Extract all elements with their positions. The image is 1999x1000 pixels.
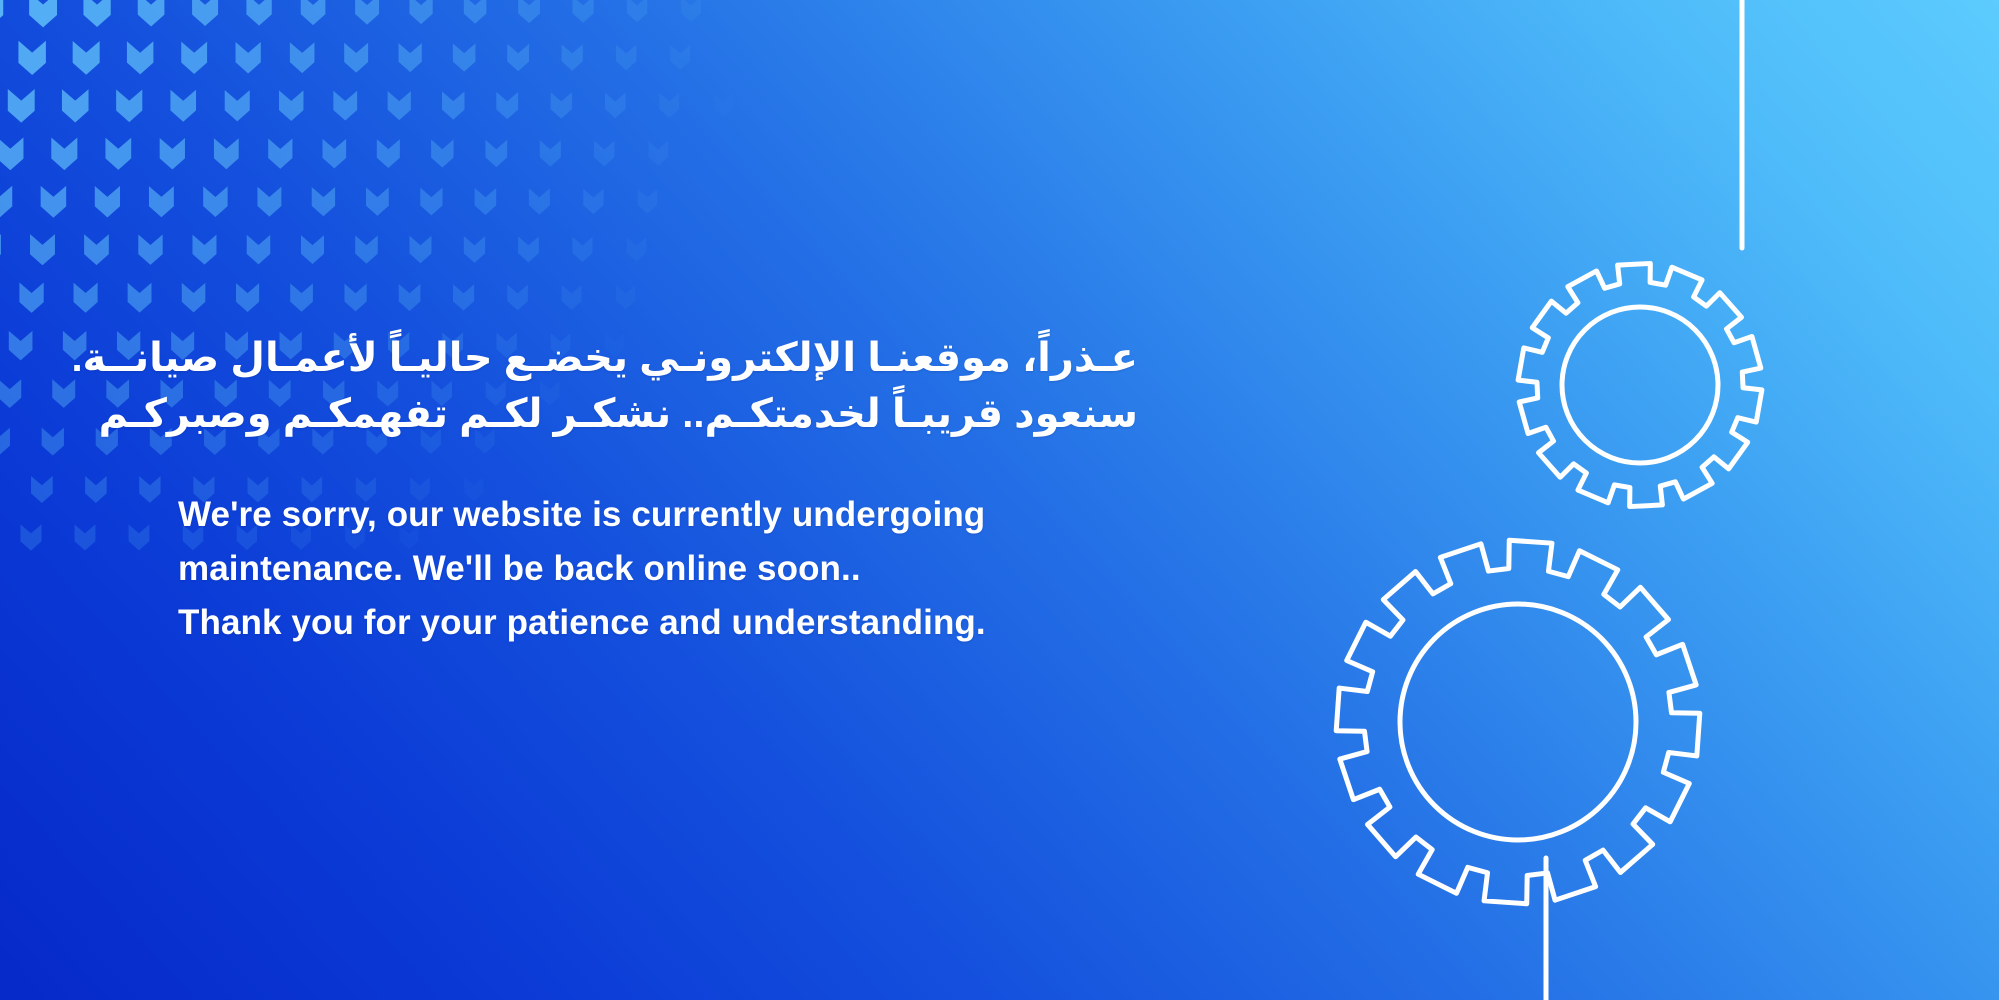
chevron-shape	[73, 283, 97, 313]
chevron-shape	[409, 236, 431, 263]
chevron-shape	[0, 234, 1, 265]
chevron-shape	[8, 89, 35, 123]
chevron-shape	[464, 0, 487, 24]
chevron-shape	[442, 91, 465, 119]
chevron-shape	[139, 476, 160, 503]
chevron-shape	[638, 189, 658, 214]
chevron-shape	[312, 187, 335, 216]
chevron-shape	[518, 236, 539, 262]
chevron-shape	[475, 188, 497, 215]
chevron-shape	[62, 89, 89, 122]
chevron-shape	[257, 187, 281, 217]
chevron-shape	[562, 285, 582, 310]
chevron-shape	[19, 283, 43, 313]
chevron-shape	[344, 284, 366, 312]
chevron-shape	[0, 186, 12, 218]
chevron-shape	[714, 93, 733, 117]
chevron-shape	[453, 284, 474, 310]
chevron-shape	[236, 42, 261, 74]
chevron-shape	[149, 186, 174, 217]
arabic-message-line-1: عـذراً، موقعنـا الإلكترونـي يخضـع حاليـا…	[178, 330, 1138, 386]
chevron-shape	[301, 0, 326, 25]
chevron-shape	[507, 44, 529, 71]
chevron-shape	[41, 186, 67, 218]
chevron-shape	[116, 89, 142, 122]
chevron-shape	[138, 234, 162, 264]
chevron-shape	[562, 44, 583, 70]
chevron-shape	[301, 235, 324, 264]
chevron-shape	[355, 235, 378, 263]
chevron-shape	[399, 43, 422, 72]
chevron-shape	[268, 139, 292, 169]
english-message-block: We're sorry, our website is currently un…	[178, 488, 1138, 650]
arabic-message-line-2: سنعود قريبـاً لخدمتكـم.. نشكـر لكـم تفهم…	[178, 386, 1138, 442]
chevron-shape	[279, 90, 303, 121]
chevron-shape	[518, 0, 540, 23]
chevron-shape	[20, 524, 41, 550]
chevron-shape	[529, 188, 550, 214]
chevron-shape	[627, 237, 647, 261]
chevron-shape	[496, 92, 518, 119]
chevron-shape	[366, 187, 389, 215]
chevron-shape	[464, 236, 485, 263]
chevron-shape	[290, 283, 313, 311]
chevron-shape	[203, 186, 227, 217]
chevron-shape	[583, 189, 603, 214]
chevron-shape	[377, 139, 400, 168]
chevron-shape	[670, 45, 690, 70]
chevron-shape	[551, 92, 572, 118]
chevron-shape	[95, 186, 120, 218]
chevron-shape	[51, 138, 77, 171]
english-message-line-1: We're sorry, our website is currently un…	[178, 488, 1138, 542]
chevron-shape	[247, 235, 271, 264]
chevron-shape	[507, 285, 528, 311]
chevron-shape	[420, 188, 442, 216]
chevron-shape	[540, 140, 561, 166]
chevron-shape	[627, 0, 647, 22]
english-message-line-2: maintenance. We'll be back online soon..	[178, 542, 1138, 596]
large-gear-inner-circle	[1400, 604, 1636, 840]
chevron-shape	[681, 0, 701, 22]
small-gear-outline	[1518, 263, 1762, 506]
chevron-shape	[129, 524, 150, 550]
chevron-shape	[648, 141, 668, 166]
chevron-shape	[182, 283, 206, 312]
chevron-shape	[236, 283, 259, 312]
chevron-shape	[9, 331, 33, 361]
chevron-shape	[0, 0, 3, 28]
chevron-shape	[431, 140, 453, 168]
chevron-shape	[127, 41, 153, 74]
chevron-shape	[128, 283, 152, 313]
chevron-shape	[18, 41, 45, 75]
chevron-shape	[0, 428, 10, 456]
chevron-shape	[659, 93, 679, 118]
chevron-shape	[84, 234, 109, 265]
chevron-shape	[594, 141, 614, 167]
chevron-shape	[138, 0, 165, 27]
chevron-shape	[42, 428, 64, 456]
maintenance-message: عـذراً، موقعنـا الإلكترونـي يخضـع حاليـا…	[178, 330, 1138, 650]
chevron-shape	[616, 45, 637, 71]
chevron-shape	[105, 138, 131, 170]
chevron-shape	[290, 42, 315, 73]
chevron-shape	[73, 41, 100, 75]
chevron-shape	[355, 0, 379, 25]
chevron-shape	[616, 285, 635, 309]
large-gear-outline	[1336, 540, 1700, 904]
chevron-shape	[214, 138, 239, 169]
chevron-shape	[399, 284, 421, 311]
chevron-shape	[30, 234, 55, 265]
chevron-shape	[0, 137, 23, 170]
chevron-shape	[573, 0, 594, 23]
chevron-shape	[160, 138, 185, 170]
chevron-shape	[485, 140, 507, 167]
maintenance-page: عـذراً، موقعنـا الإلكترونـي يخضـع حاليـا…	[0, 0, 1999, 1000]
chevron-shape	[323, 139, 347, 169]
chevron-shape	[0, 379, 21, 408]
chevron-shape	[388, 91, 411, 120]
chevron-shape	[572, 237, 592, 262]
chevron-shape	[29, 0, 57, 27]
chevron-shape	[181, 42, 207, 74]
chevron-shape	[192, 235, 216, 265]
chevron-shape	[409, 0, 432, 24]
chevron-shape	[31, 476, 53, 503]
chevron-shape	[225, 90, 250, 121]
chevron-shape	[246, 0, 271, 26]
chevron-shape	[170, 90, 196, 122]
chevron-shape	[333, 91, 357, 121]
chevron-shape	[453, 43, 476, 71]
chevron-shape	[83, 0, 110, 27]
chevron-shape	[344, 43, 368, 73]
chevron-shape	[605, 93, 625, 119]
arabic-message-block: عـذراً، موقعنـا الإلكترونـي يخضـع حاليـا…	[178, 330, 1138, 442]
small-gear-inner-circle	[1562, 307, 1718, 463]
english-message-line-3: Thank you for your patience and understa…	[178, 596, 1138, 650]
chevron-shape	[75, 524, 96, 550]
chevron-shape	[192, 0, 218, 26]
chevron-shape	[85, 476, 107, 503]
